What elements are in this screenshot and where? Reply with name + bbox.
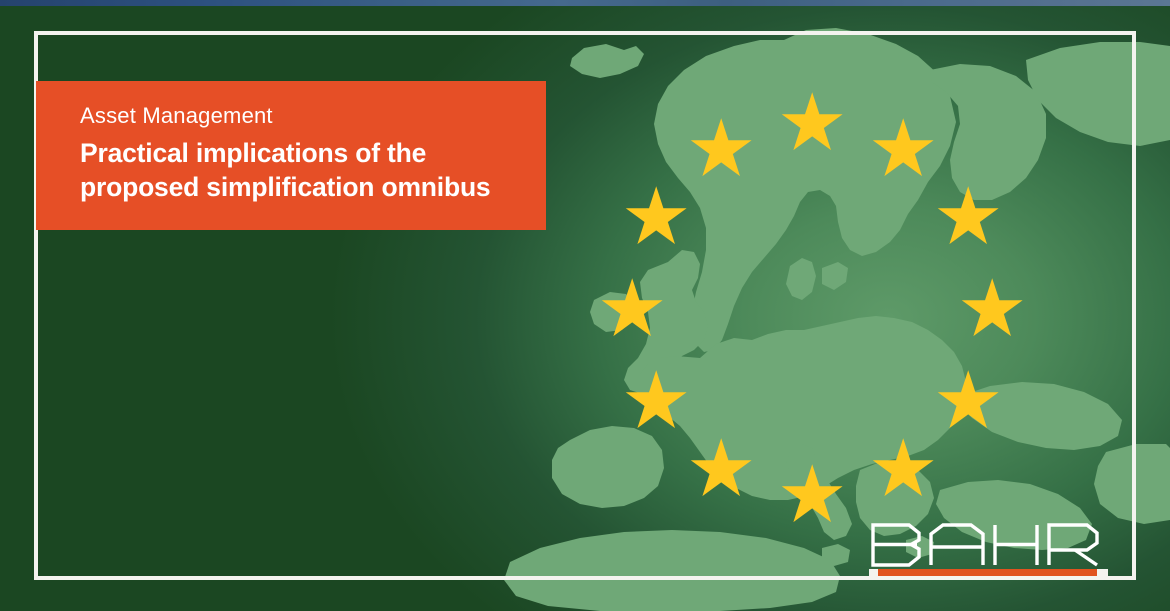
star-12-oclock-icon — [777, 89, 847, 159]
star-4-oclock-icon — [933, 367, 1003, 437]
star-11-oclock-icon — [686, 115, 756, 185]
article-banner: Asset Management Practical implications … — [0, 0, 1170, 611]
logo-underline-rule — [869, 569, 1108, 576]
star-2-oclock-icon — [933, 183, 1003, 253]
star-5-oclock-icon — [868, 435, 938, 505]
star-3-oclock-icon — [957, 275, 1027, 345]
star-10-oclock-icon — [621, 183, 691, 253]
bahr-logo[interactable] — [869, 523, 1109, 567]
page-title-line-2: proposed simplification omnibus — [80, 172, 490, 202]
star-7-oclock-icon — [686, 435, 756, 505]
page-title-line-1: Practical implications of the — [80, 138, 426, 168]
star-1-oclock-icon — [868, 115, 938, 185]
star-8-oclock-icon — [621, 367, 691, 437]
top-accent-strip — [0, 0, 1170, 6]
star-9-oclock-icon — [597, 275, 667, 345]
star-6-oclock-icon — [777, 461, 847, 531]
title-card: Asset Management Practical implications … — [36, 81, 546, 230]
category-label: Asset Management — [80, 103, 516, 129]
page-title: Practical implications of the proposed s… — [80, 137, 516, 204]
